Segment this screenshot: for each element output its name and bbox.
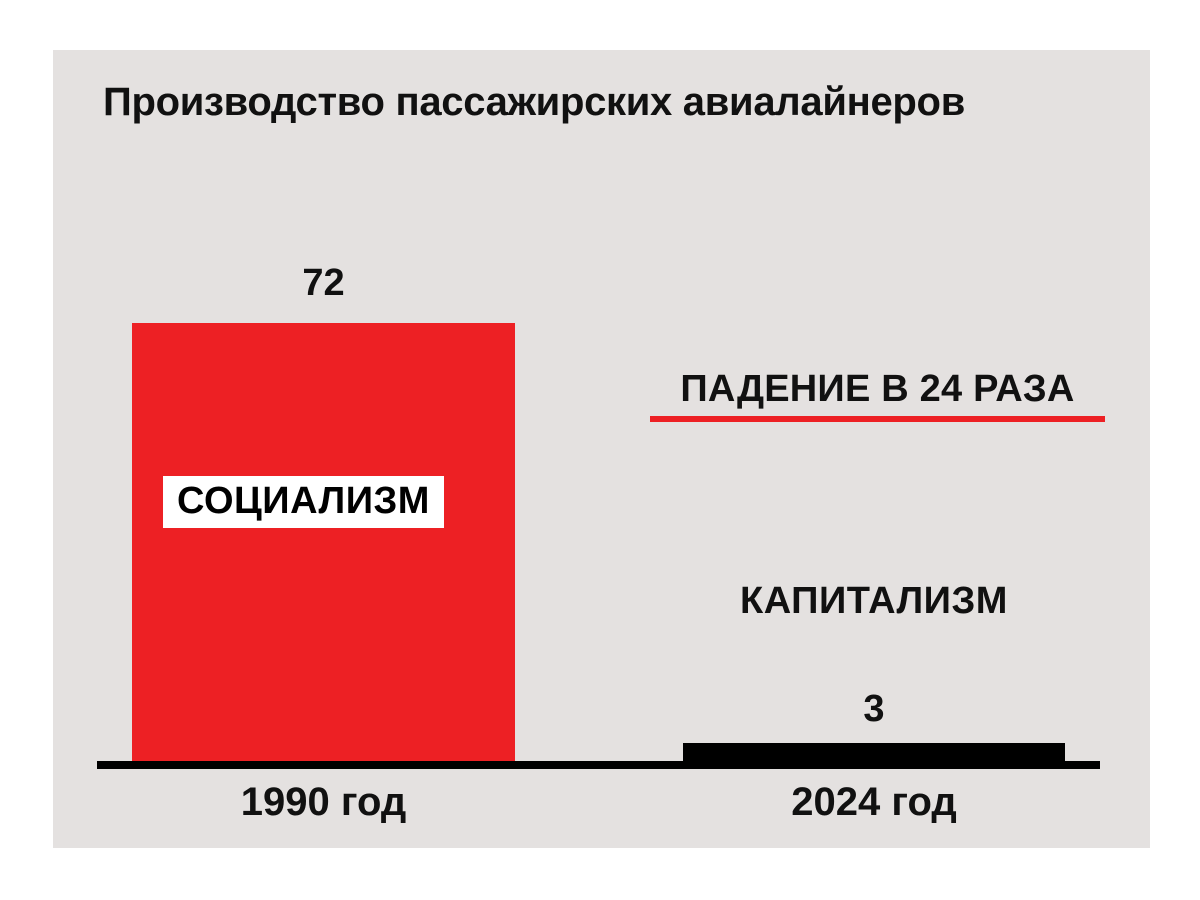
infographic-card: Производство пассажирских авиалайнеров 7… [53,50,1150,848]
callout-decline: ПАДЕНИЕ В 24 РАЗА [650,370,1105,422]
x-axis-label-1990: 1990 год [132,780,515,825]
callout-text: ПАДЕНИЕ В 24 РАЗА [650,370,1105,410]
poster-canvas: Производство пассажирских авиалайнеров 7… [0,0,1200,900]
bar-1990-socialism [132,323,515,761]
bar-2024-capitalism [683,743,1065,761]
bar-value-label-2024: 3 [683,688,1065,731]
x-axis-label-2024: 2024 год [683,780,1065,825]
callout-underline [650,416,1105,422]
bar-annotation-socialism: СОЦИАЛИЗМ [163,476,444,528]
chart-plot-area: 72 СОЦИАЛИЗМ ПАДЕНИЕ В 24 РАЗА КАПИТАЛИЗ… [53,50,1150,848]
bar-value-label-1990: 72 [132,262,515,305]
bar-annotation-capitalism: КАПИТАЛИЗМ [683,580,1065,623]
x-axis-line [97,761,1100,769]
